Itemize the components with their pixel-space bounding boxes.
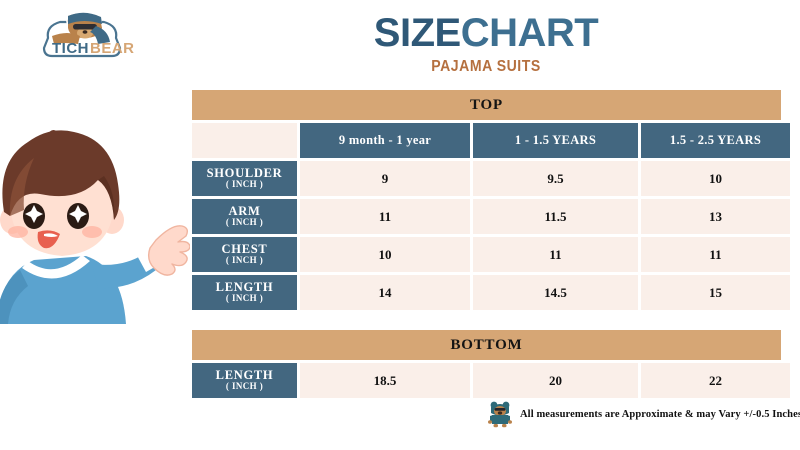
- row-header-unit: ( INCH ): [226, 294, 263, 304]
- page-title: SIZECHART: [190, 12, 782, 54]
- table-row: ARM ( INCH ) 11 11.5 13: [192, 199, 781, 234]
- page-title-chart: CHART: [461, 11, 598, 55]
- cell-shoulder-2: 10: [641, 161, 790, 196]
- table-band-top: TOP: [192, 90, 781, 120]
- table-band-bottom: BOTTOM: [192, 330, 781, 360]
- row-header-unit: ( INCH ): [226, 180, 263, 190]
- column-header-1: 1 - 1.5 YEARS: [473, 123, 638, 158]
- column-header-2: 1.5 - 2.5 YEARS: [641, 123, 790, 158]
- logo-text-tich: TICH: [52, 40, 89, 57]
- row-header-chest: CHEST ( INCH ): [192, 237, 297, 272]
- cell-bottom-length-2: 22: [641, 363, 790, 398]
- size-table-top: TOP 9 month - 1 year 1 - 1.5 YEARS 1.5 -…: [192, 90, 781, 310]
- table-header-row: 9 month - 1 year 1 - 1.5 YEARS 1.5 - 2.5…: [192, 123, 781, 158]
- cell-length-0: 14: [300, 275, 470, 310]
- table-row: CHEST ( INCH ) 10 11 11: [192, 237, 781, 272]
- page-subtitle: PAJAMA SUITS: [226, 58, 747, 76]
- size-table-bottom: BOTTOM LENGTH ( INCH ) 18.5 20 22: [192, 330, 781, 398]
- row-header-name: ARM: [229, 205, 261, 219]
- row-header-unit: ( INCH ): [226, 218, 263, 228]
- row-header-name: SHOULDER: [207, 167, 283, 181]
- disclaimer-text: All measurements are Approximate & may V…: [520, 409, 800, 420]
- row-header-bottom-length: LENGTH ( INCH ): [192, 363, 297, 398]
- row-header-arm: ARM ( INCH ): [192, 199, 297, 234]
- cell-shoulder-1: 9.5: [473, 161, 638, 196]
- page-title-block: SIZECHART PAJAMA SUITS: [190, 12, 782, 76]
- cell-chest-1: 11: [473, 237, 638, 272]
- row-header-name: LENGTH: [216, 281, 274, 295]
- cell-length-1: 14.5: [473, 275, 638, 310]
- boy-hand: [149, 226, 190, 275]
- row-header-unit: ( INCH ): [226, 256, 263, 266]
- cell-shoulder-0: 9: [300, 161, 470, 196]
- row-header-unit: ( INCH ): [226, 382, 263, 392]
- cell-chest-0: 10: [300, 237, 470, 272]
- row-header-name: LENGTH: [216, 369, 274, 383]
- table-corner-cell: [192, 123, 297, 158]
- table-row: LENGTH ( INCH ) 18.5 20 22: [192, 363, 781, 398]
- cell-arm-1: 11.5: [473, 199, 638, 234]
- logo-text-bear: BEAR: [90, 40, 135, 57]
- row-header-length: LENGTH ( INCH ): [192, 275, 297, 310]
- cell-bottom-length-0: 18.5: [300, 363, 470, 398]
- cell-chest-2: 11: [641, 237, 790, 272]
- bear-mascot-icon: [487, 400, 513, 428]
- cell-length-2: 15: [641, 275, 790, 310]
- waving-boy-illustration: [0, 128, 190, 328]
- table-row: SHOULDER ( INCH ) 9 9.5 10: [192, 161, 781, 196]
- page-title-size: SIZE: [374, 11, 461, 55]
- row-header-name: CHEST: [222, 243, 268, 257]
- table-row: LENGTH ( INCH ) 14 14.5 15: [192, 275, 781, 310]
- column-header-0: 9 month - 1 year: [300, 123, 470, 158]
- cell-bottom-length-1: 20: [473, 363, 638, 398]
- brand-logo: TICH BEAR: [28, 8, 136, 62]
- cell-arm-0: 11: [300, 199, 470, 234]
- cell-arm-2: 13: [641, 199, 790, 234]
- row-header-shoulder: SHOULDER ( INCH ): [192, 161, 297, 196]
- disclaimer: All measurements are Approximate & may V…: [487, 400, 800, 428]
